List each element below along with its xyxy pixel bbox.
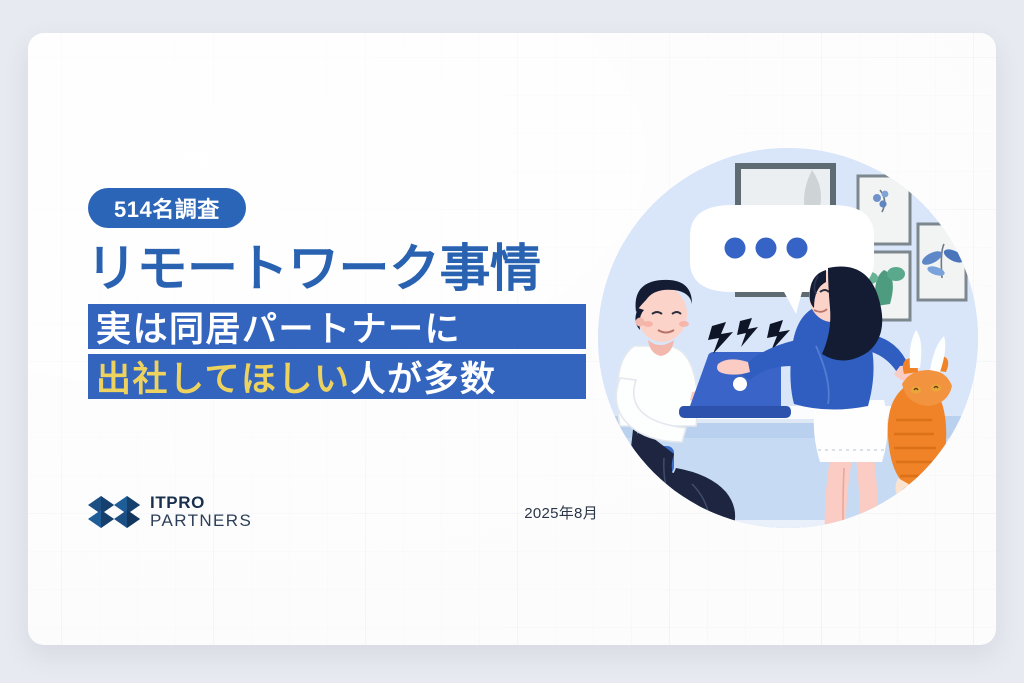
- headline-block: 514名調査 リモートワーク事情 実は同居パートナーに 出社してほしい 人が多数: [60, 188, 600, 399]
- bubble-dot-1: [725, 238, 746, 259]
- subtitle-band-1-text: 実は同居パートナーに: [96, 301, 461, 352]
- survey-count-badge: 514名調査: [88, 188, 246, 228]
- wall-frame-small-3: [918, 224, 966, 300]
- remote-work-couple-illustration: [580, 128, 996, 610]
- bubble-dot-2: [756, 238, 777, 259]
- page-title: リモートワーク事情: [86, 242, 600, 296]
- woman-hand-pointing: [717, 359, 750, 374]
- subtitle-band-2-text: 人が多数: [350, 351, 496, 402]
- itpro-partners-diamond-logo-icon: [88, 494, 140, 530]
- subtitle-band-1: 実は同居パートナーに: [88, 304, 586, 349]
- footer-row: ITPRO PARTNERS 2025年8月: [88, 488, 598, 536]
- logo-wordmark-line-1: ITPRO: [150, 494, 252, 512]
- logo-wordmark: ITPRO PARTNERS: [150, 494, 252, 531]
- subtitle-band-2: 出社してほしい 人が多数: [88, 354, 586, 399]
- man-foot-left: [634, 546, 660, 567]
- report-cover-card: 514名調査 リモートワーク事情 実は同居パートナーに 出社してほしい 人が多数: [28, 33, 996, 645]
- bubble-dot-3: [787, 238, 808, 259]
- man-foot-right: [684, 546, 718, 569]
- logo-wordmark-line-2: PARTNERS: [150, 512, 252, 530]
- subtitle-band-2-highlight-text: 出社してほしい: [96, 351, 350, 402]
